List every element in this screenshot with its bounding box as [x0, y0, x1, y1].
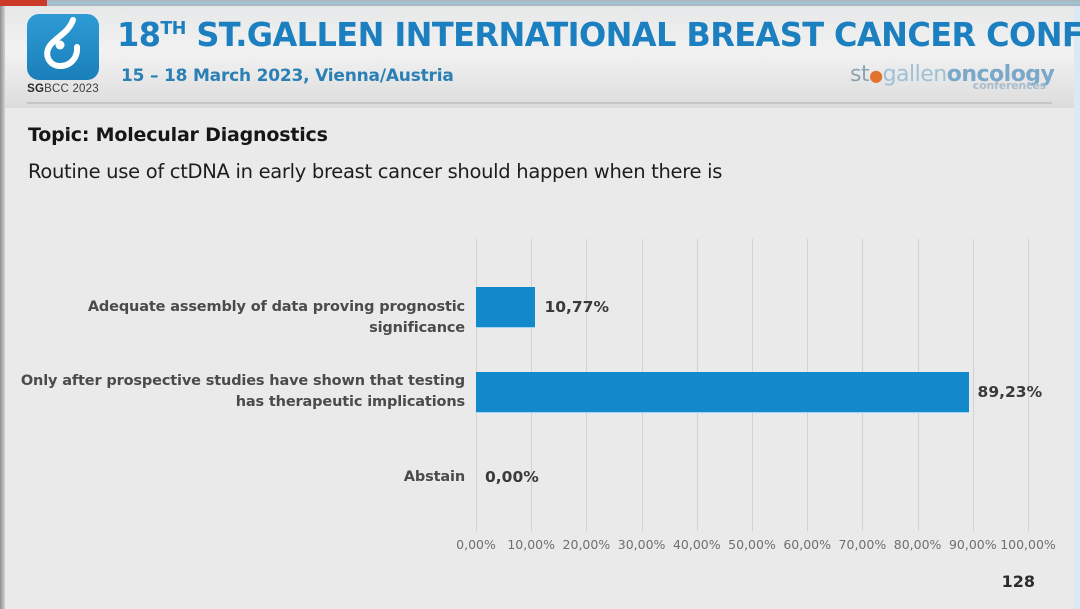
sgbcc-logo: SGBCC 2023 [18, 14, 108, 95]
poll-results-chart: 0,00%10,00%20,00%30,00%40,00%50,00%60,00… [5, 235, 1074, 545]
x-axis-tick-label: 80,00% [894, 537, 942, 552]
chart-category-label: Adequate assembly of data proving progno… [10, 297, 465, 339]
chart-bar-value-label: 10,77% [544, 298, 609, 316]
slide-topic: Topic: Molecular Diagnostics [28, 124, 328, 146]
chart-bar [476, 372, 969, 412]
conference-header: SGBCC 2023 18TH ST.GALLEN INTERNATIONAL … [5, 6, 1074, 108]
chart-gridline [973, 239, 974, 531]
conference-title-ordinal: TH [160, 18, 185, 39]
chart-bar-value-label: 0,00% [485, 468, 539, 486]
chart-category-label: Only after prospective studies have show… [10, 371, 465, 413]
x-axis-tick-label: 50,00% [728, 537, 776, 552]
sgbcc-logo-caption-rest: BCC 2023 [44, 83, 99, 95]
conference-dates-location: 15 – 18 March 2023, Vienna/Austria [121, 66, 454, 86]
slide-right-edge [1074, 6, 1080, 609]
slide-page-number: 128 [1002, 572, 1035, 591]
conference-title-number: 18 [117, 15, 160, 54]
sgbcc-logo-mark [27, 14, 99, 80]
sgbcc-logo-caption-bold: SG [27, 83, 44, 95]
x-axis-tick-label: 20,00% [563, 537, 611, 552]
sponsor-gallen: gallen [883, 62, 947, 87]
x-axis-tick-label: 60,00% [783, 537, 831, 552]
presentation-slide: SGBCC 2023 18TH ST.GALLEN INTERNATIONAL … [0, 0, 1080, 609]
sponsor-logo: st●gallenoncology conferences [850, 64, 1050, 102]
sponsor-st: st [850, 62, 869, 87]
x-axis-tick-label: 100,00% [1000, 537, 1056, 552]
x-axis-tick-label: 0,00% [456, 537, 496, 552]
x-axis-tick-label: 90,00% [949, 537, 997, 552]
header-divider [27, 102, 1052, 104]
progress-track [47, 2, 1080, 4]
chart-plot-area: 0,00%10,00%20,00%30,00%40,00%50,00%60,00… [476, 239, 1028, 531]
x-axis-tick-label: 30,00% [618, 537, 666, 552]
x-axis-tick-label: 40,00% [673, 537, 721, 552]
chart-bar [476, 287, 535, 327]
chart-category-label: Abstain [10, 467, 465, 488]
chart-bar-value-label: 89,23% [978, 383, 1043, 401]
slide-question: Routine use of ctDNA in early breast can… [28, 160, 722, 183]
sponsor-dot-icon: ● [869, 66, 882, 85]
conference-title: 18TH ST.GALLEN INTERNATIONAL BREAST CANC… [117, 18, 1080, 51]
sgbcc-logo-caption: SGBCC 2023 [18, 83, 108, 95]
x-axis-tick-label: 70,00% [839, 537, 887, 552]
x-axis-tick-label: 10,00% [507, 537, 555, 552]
conference-title-rest: ST.GALLEN INTERNATIONAL BREAST CANCER CO… [186, 15, 1080, 54]
